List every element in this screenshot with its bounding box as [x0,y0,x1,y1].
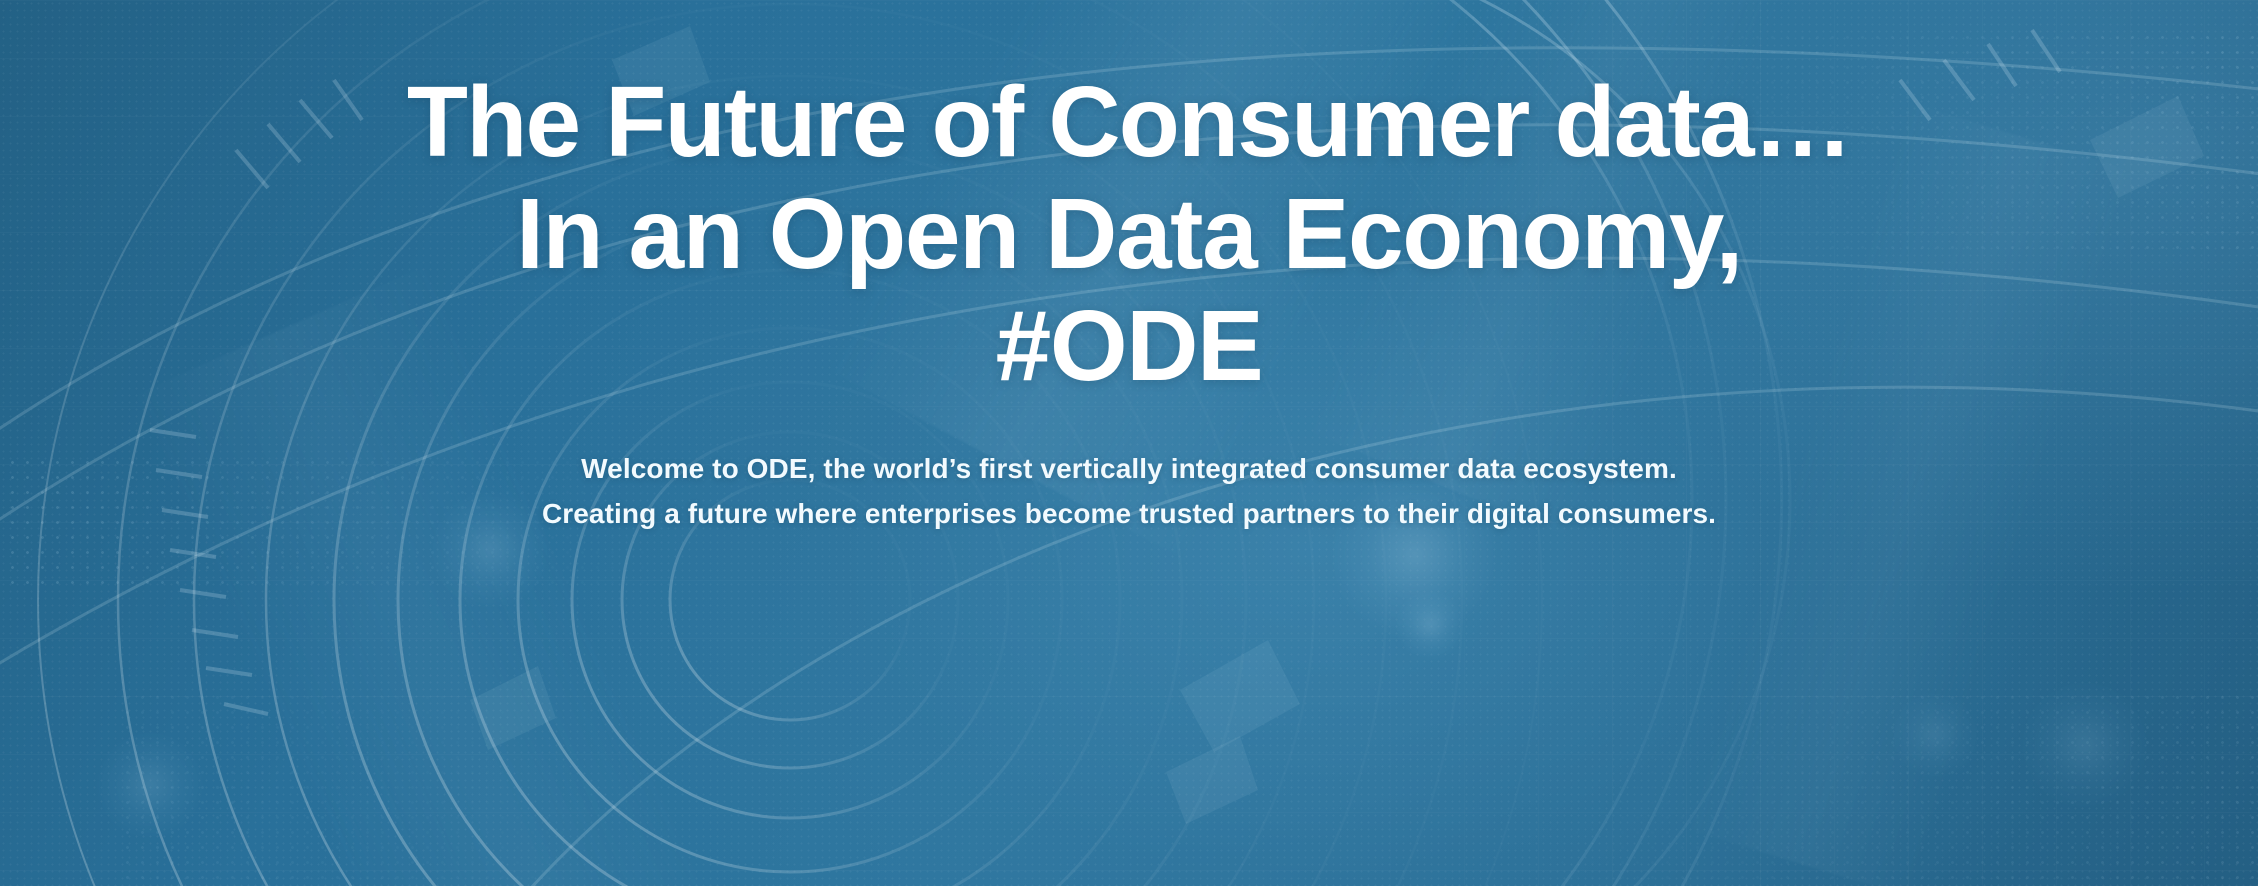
hero-headline: The Future of Consumer data… In an Open … [0,66,2258,402]
hero-headline-line-1: The Future of Consumer data… [0,66,2258,178]
hero-banner: The Future of Consumer data… In an Open … [0,0,2258,886]
hero-headline-line-2: In an Open Data Economy, [0,178,2258,290]
hero-headline-line-3: #ODE [0,290,2258,402]
hero-content: The Future of Consumer data… In an Open … [0,0,2258,886]
hero-subtitle: Welcome to ODE, the world’s first vertic… [529,446,1729,537]
